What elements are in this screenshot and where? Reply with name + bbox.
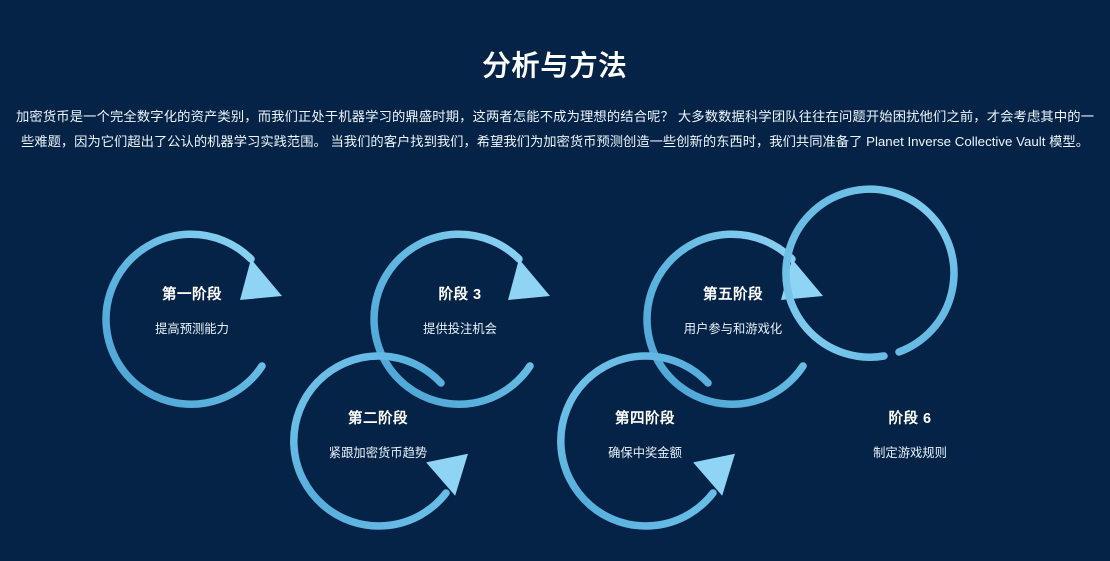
arrow-head-stage-2 bbox=[426, 443, 482, 500]
arc-graphics bbox=[0, 0, 1110, 561]
arrow-head-stage-1 bbox=[240, 259, 282, 300]
process-diagram: 第一阶段 提高预测能力 第二阶段 紧跟加密货币趋势 阶段 3 提供投注机会 第四… bbox=[0, 0, 1110, 561]
arrow-head-stage-4 bbox=[693, 443, 749, 500]
arc-stage-4 bbox=[561, 356, 750, 526]
arc-stage-2 bbox=[294, 356, 483, 526]
arc-stage-1 bbox=[106, 234, 282, 404]
arrow-head-stage-3 bbox=[508, 259, 550, 300]
arc-stage-3 bbox=[374, 234, 550, 404]
arc-stage-6 bbox=[786, 189, 954, 357]
slide-canvas: 分析与方法 加密货币是一个完全数字化的资产类别，而我们正处于机器学习的鼎盛时期，… bbox=[0, 0, 1110, 561]
